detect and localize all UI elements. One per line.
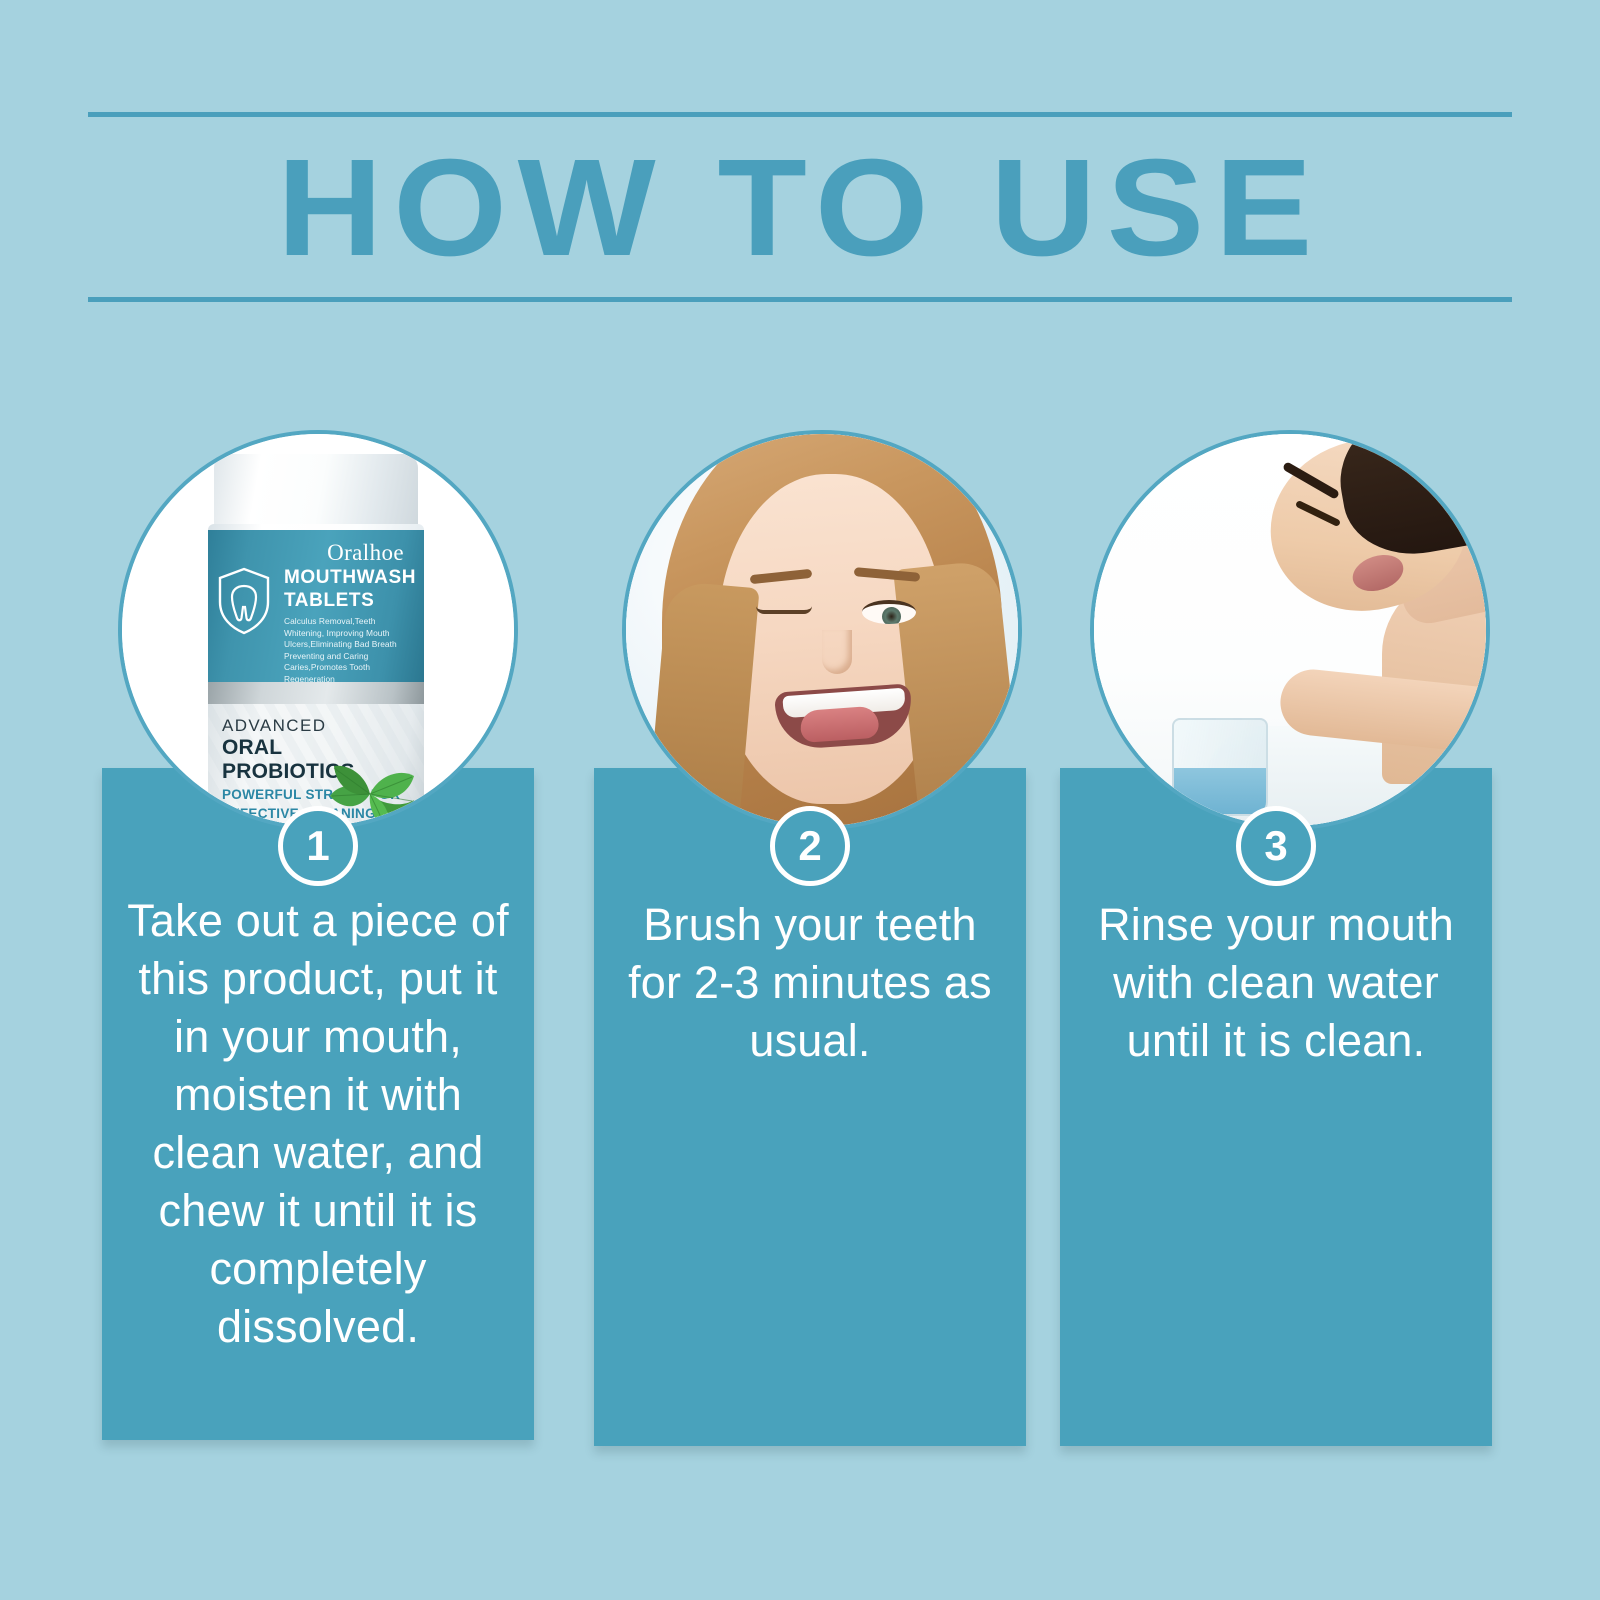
eye-open — [862, 600, 916, 624]
step-card-3: 3 Rinse your mouth with clean water unti… — [1060, 420, 1492, 1480]
label-upper-section: Oralhoe MOUTHWASH TABLETS Calculus Remov… — [208, 530, 424, 682]
step-caption-2: Brush your teeth for 2-3 minutes as usua… — [594, 896, 1026, 1070]
rinsing-woman-illustration — [1094, 434, 1486, 826]
step-number-badge-2: 2 — [770, 806, 850, 886]
brand-name: Oralhoe — [222, 540, 410, 565]
eye-winking — [756, 606, 812, 614]
step-image-2 — [622, 430, 1022, 830]
steps-row: Oralhoe MOUTHWASH TABLETS Calculus Remov… — [0, 420, 1600, 1480]
page-header: HOW TO USE — [88, 112, 1512, 302]
step-caption-3: Rinse your mouth with clean water until … — [1060, 896, 1492, 1070]
step-image-3 — [1090, 430, 1490, 830]
header-rule-top — [88, 112, 1512, 117]
bottle-cap — [214, 454, 418, 532]
mouthwash-liquid — [1174, 768, 1266, 814]
step-number-badge-1: 1 — [278, 806, 358, 886]
bottle-body: Oralhoe MOUTHWASH TABLETS Calculus Remov… — [208, 524, 424, 830]
iris — [882, 607, 901, 624]
nose-shape — [822, 630, 852, 674]
step-caption-1: Take out a piece of this product, put it… — [102, 892, 534, 1356]
bottle-shape: Oralhoe MOUTHWASH TABLETS Calculus Remov… — [200, 454, 432, 830]
step-image-1: Oralhoe MOUTHWASH TABLETS Calculus Remov… — [118, 430, 518, 830]
page-title: HOW TO USE — [45, 124, 1554, 292]
step-card-1: Oralhoe MOUTHWASH TABLETS Calculus Remov… — [102, 420, 534, 1480]
tooth-shield-icon — [216, 566, 272, 636]
label-benefits: Calculus Removal,Teeth Whitening, Improv… — [284, 616, 410, 685]
step-number-badge-3: 3 — [1236, 806, 1316, 886]
label-title-line2: TABLETS — [284, 590, 410, 611]
header-rule-bottom — [88, 297, 1512, 302]
product-bottle-illustration: Oralhoe MOUTHWASH TABLETS Calculus Remov… — [122, 434, 514, 826]
step-card-2: 2 Brush your teeth for 2-3 minutes as us… — [594, 420, 1026, 1480]
label-divider-band — [208, 682, 424, 704]
tongue-shape — [799, 706, 879, 743]
label-advanced: ADVANCED — [222, 716, 410, 736]
label-title-line1: MOUTHWASH — [284, 567, 410, 588]
water-glass — [1172, 718, 1268, 816]
smiling-woman-illustration — [626, 434, 1018, 826]
